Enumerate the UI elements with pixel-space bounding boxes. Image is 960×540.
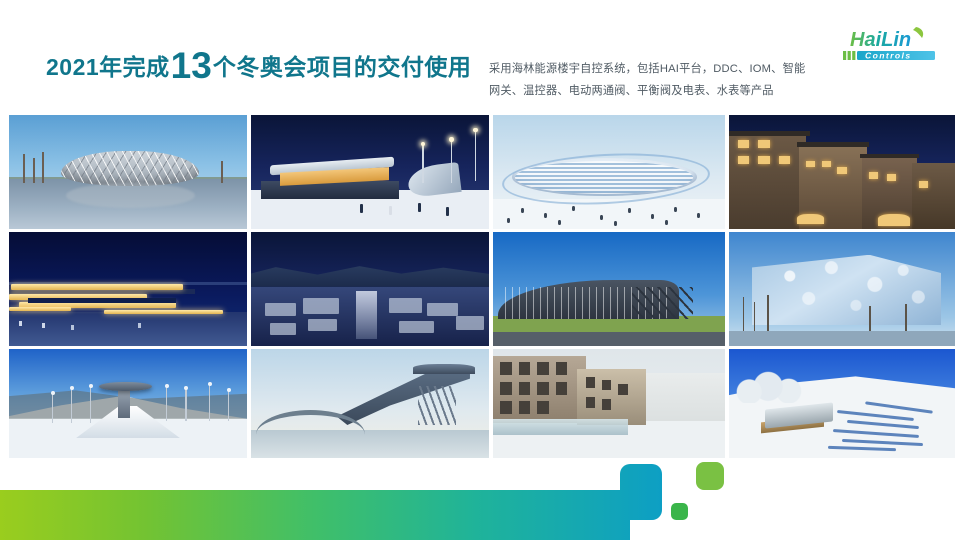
svg-text:HaiLin: HaiLin [850, 29, 911, 51]
gallery-image-athletes-village-apartments-snow[interactable]: 运动员村公寓雪景 [493, 349, 725, 458]
description-block: 采用海林能源楼宇自控系统，包括HAI平台，DDC、IOM、智能 网关、温控器、电… [489, 58, 841, 102]
gallery-image-national-speed-skating-oval[interactable]: 国家速滑馆（冰丝带） [493, 115, 725, 229]
description-line-2: 网关、温控器、电动两通阀、平衡阀及电表、水表等产品 [489, 80, 841, 102]
gallery-image-mountain-resort-hotel[interactable]: 山地度假酒店 [729, 115, 955, 229]
gallery-image-national-stadium-birds-nest[interactable]: 国家体育场（鸟巢） [9, 115, 247, 229]
gallery-image-olympic-village-aerial-dusk[interactable]: 奥运村鸟瞰夜景 [251, 232, 489, 346]
gallery-image-national-aquatics-center-water-cube[interactable]: 国家游泳中心（水立方） [729, 232, 955, 346]
gallery-image-ski-venue-dusk[interactable]: 越野滑雪场馆夜景 [251, 115, 489, 229]
footer-accent-square-large [696, 462, 724, 490]
hailin-controls-logo: HaiLin Controls [842, 24, 946, 66]
page-title-suffix: 个冬奥会项目的交付使用 [213, 54, 472, 80]
page-title-number: 13 [170, 45, 213, 86]
page-title-prefix: 2021年完成 [46, 54, 170, 80]
gallery-image-illuminated-venue-night[interactable]: 夜间亮化场馆 [9, 232, 247, 346]
svg-text:Controls: Controls [865, 50, 912, 60]
gallery-image-snow-ruyi-ski-jumping-centre[interactable]: 国家跳台滑雪中心（雪如意） [9, 349, 247, 458]
project-photo-grid: 国家体育场（鸟巢） 越野滑雪场馆夜景 [9, 115, 951, 456]
page-title: 2021年完成13个冬奥会项目的交付使用 [46, 47, 471, 84]
description-line-1: 采用海林能源楼宇自控系统，包括HAI平台，DDC、IOM、智能 [489, 58, 841, 80]
gallery-image-big-air-shougang[interactable]: 首钢滑雪大跳台 [251, 349, 489, 458]
gallery-image-curved-roof-glass-arena[interactable]: 弧形屋面玻璃幕墙体育馆 [493, 232, 725, 346]
footer-decoration [0, 456, 960, 540]
footer-gradient-bar [0, 464, 662, 540]
gallery-image-cross-country-biathlon-venue[interactable]: 越野滑雪及冬季两项场地 [729, 349, 955, 458]
slide-root: 2021年完成13个冬奥会项目的交付使用 采用海林能源楼宇自控系统，包括HAI平… [0, 0, 960, 540]
footer-accent-square-small [671, 503, 688, 520]
